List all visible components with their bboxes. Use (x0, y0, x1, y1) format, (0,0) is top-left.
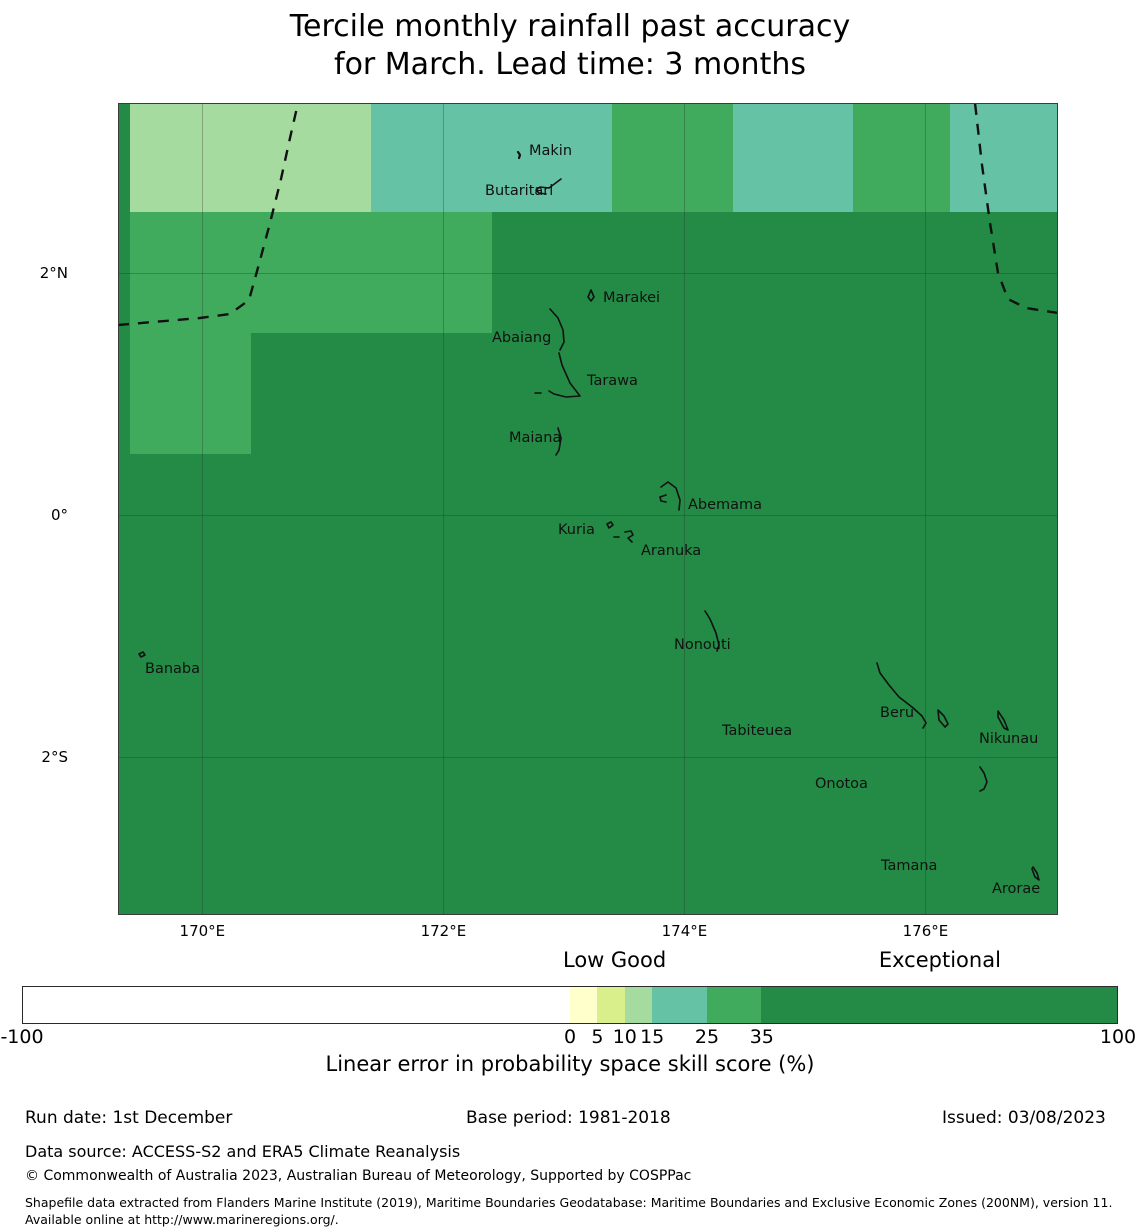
colorbar-tick-label: 5 (591, 1026, 603, 1048)
base-period-text: Base period: 1981-2018 (466, 1108, 671, 1128)
island-label: Banaba (145, 661, 200, 677)
island-label: Butaritari (485, 183, 553, 199)
island-label: Onotoa (815, 776, 868, 792)
island-label: Nonouti (674, 637, 731, 653)
page-title-line-1: Tercile monthly rainfall past accuracy (0, 8, 1140, 46)
colorbar-tick-label: 10 (613, 1026, 637, 1048)
latitude-tick-label: 0° (51, 506, 68, 524)
island-label: Abaiang (492, 330, 551, 346)
colorbar[interactable] (22, 986, 1118, 1024)
colorbar-segment (652, 987, 707, 1023)
copyright-text: © Commonwealth of Australia 2023, Austra… (25, 1168, 691, 1184)
island-label: Beru (880, 705, 914, 721)
page-title-line-2: for March. Lead time: 3 months (0, 46, 1140, 84)
colorbar-segment (761, 987, 1117, 1023)
colorbar-segment (625, 987, 652, 1023)
island-label: Abemama (688, 497, 762, 513)
data-source-text: Data source: ACCESS-S2 and ERA5 Climate … (25, 1142, 460, 1161)
colorbar-tick-label: 0 (564, 1026, 576, 1048)
island-label: Tabiteuea (722, 723, 792, 739)
map-plot-area[interactable]: MakinButaritariMarakeiAbaiangTarawaMaian… (118, 103, 1058, 915)
island-label: Nikunau (979, 731, 1038, 747)
longitude-tick-label: 172°E (421, 922, 467, 940)
run-date-text: Run date: 1st December (25, 1108, 232, 1128)
island-label: Aranuka (641, 543, 701, 559)
colorbar-gradient (22, 986, 1118, 1024)
colorbar-category-label: Exceptional (879, 948, 1001, 972)
longitude-tick-label: 170°E (180, 922, 226, 940)
island-label: Kuria (558, 522, 595, 538)
island-label-layer: MakinButaritariMarakeiAbaiangTarawaMaian… (118, 103, 1058, 915)
longitude-tick-label: 176°E (903, 922, 949, 940)
colorbar-tick-label: 25 (695, 1026, 719, 1048)
colorbar-tick-label: 15 (640, 1026, 664, 1048)
longitude-tick-label: 174°E (662, 922, 708, 940)
island-label: Marakei (603, 290, 660, 306)
colorbar-axis-label: Linear error in probability space skill … (0, 1052, 1140, 1076)
footer-top-row: Run date: 1st December Base period: 1981… (0, 1108, 1140, 1134)
colorbar-segment (23, 987, 570, 1023)
latitude-tick-label: 2°N (40, 264, 68, 282)
colorbar-tick-label: 35 (750, 1026, 774, 1048)
colorbar-segment (570, 987, 597, 1023)
island-label: Maiana (509, 430, 561, 446)
colorbar-tick-labels: -1000510152535100 (0, 1026, 1140, 1050)
shapefile-attribution-text: Shapefile data extracted from Flanders M… (25, 1194, 1125, 1228)
colorbar-segment (597, 987, 624, 1023)
island-label: Tamana (881, 858, 937, 874)
issued-date-text: Issued: 03/08/2023 (942, 1108, 1106, 1128)
island-label: Arorae (992, 881, 1040, 897)
colorbar-category-labels: LowGoodExceptional (0, 948, 1140, 976)
colorbar-category-label: Good (611, 948, 666, 972)
colorbar-tick-label: 100 (1100, 1026, 1136, 1048)
island-label: Tarawa (587, 373, 638, 389)
map-figure: MakinButaritariMarakeiAbaiangTarawaMaian… (118, 103, 1058, 915)
island-label: Makin (529, 143, 572, 159)
colorbar-category-label: Low (563, 948, 604, 972)
colorbar-segment (707, 987, 762, 1023)
page-title: Tercile monthly rainfall past accuracy f… (0, 8, 1140, 84)
footer: Run date: 1st December Base period: 1981… (0, 1108, 1140, 1134)
latitude-tick-label: 2°S (41, 748, 68, 766)
colorbar-tick-label: -100 (0, 1026, 43, 1048)
